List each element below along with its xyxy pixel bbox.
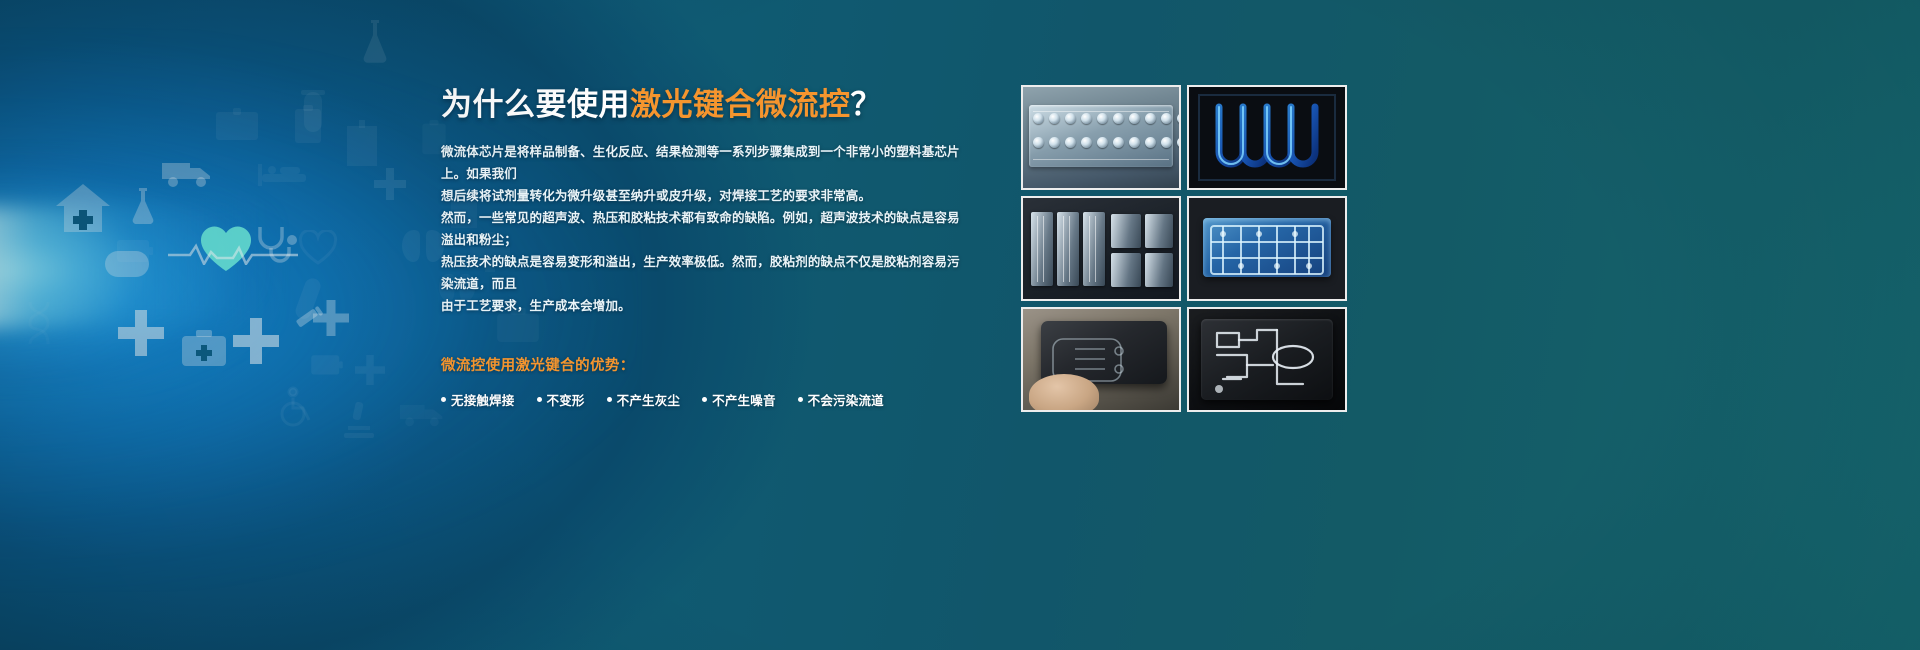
handheld-black-chip-photo[interactable]: [1021, 307, 1181, 412]
bullet-dot-icon: [798, 397, 803, 402]
list-item-label: 不会污染流道: [808, 390, 884, 409]
bullet-dot-icon: [607, 397, 612, 402]
headline-lead: 为什么要使用: [441, 87, 630, 122]
paragraph-line: 然而，一些常见的超声波、热压和胶粘技术都有致命的缺陷。例如，超声波技术的缺点是容…: [441, 207, 971, 251]
paragraph-line: 想后续将试剂量转化为微升级甚至纳升或皮升级，对焊接工艺的要求非常高。: [441, 185, 971, 207]
list-item: 不变形: [537, 390, 585, 409]
blue-manifold-photo[interactable]: [1187, 196, 1347, 301]
paragraph-2: 然而，一些常见的超声波、热压和胶粘技术都有致命的缺陷。例如，超声波技术的缺点是容…: [441, 207, 971, 317]
paragraph-line: 由于工艺要求，生产成本会增加。: [441, 295, 971, 317]
striped-chips-photo[interactable]: [1021, 196, 1181, 301]
list-item-label: 不产生灰尘: [617, 390, 681, 409]
list-item: 不产生灰尘: [607, 390, 681, 409]
list-item-label: 不产生噪音: [712, 390, 776, 409]
product-photo-gallery: [1021, 85, 1347, 412]
microfluidic-chip-wells-photo[interactable]: [1021, 85, 1181, 190]
banner-content: 为什么要使用激光键合微流控？ 微流体芯片是将样品制备、生化反应、结果检测等一系列…: [441, 86, 971, 409]
bullet-dot-icon: [537, 397, 542, 402]
promo-banner: 为什么要使用激光键合微流控？ 微流体芯片是将样品制备、生化反应、结果检测等一系列…: [0, 0, 1920, 650]
list-item: 无接触焊接: [441, 390, 515, 409]
serpentine-channel-photo[interactable]: [1187, 85, 1347, 190]
bullet-dot-icon: [441, 397, 446, 402]
light-burst-beam: [0, 202, 260, 327]
headline-question-mark: ？: [851, 87, 883, 122]
page-title: 为什么要使用激光键合微流控？: [441, 86, 971, 125]
bullet-dot-icon: [702, 397, 707, 402]
paragraph-line: 热压技术的缺点是容易变形和溢出，生产效率极低。然而，胶粘剂的缺点不仅是胶粘剂容易…: [441, 251, 971, 295]
black-cartridge-photo[interactable]: [1187, 307, 1347, 412]
body-copy: 微流体芯片是将样品制备、生化反应、结果检测等一系列步骤集成到一个非常小的塑料基芯…: [441, 141, 971, 317]
list-item-label: 不变形: [547, 390, 585, 409]
headline-accent: 激光键合微流控: [630, 87, 851, 122]
list-item: 不产生噪音: [702, 390, 776, 409]
advantages-list: 无接触焊接 不变形 不产生灰尘 不产生噪音 不会污染流道: [441, 390, 971, 409]
advantages-heading: 微流控使用激光键合的优势：: [441, 354, 971, 375]
list-item-label: 无接触焊接: [451, 390, 515, 409]
list-item: 不会污染流道: [798, 390, 884, 409]
paragraph-1: 微流体芯片是将样品制备、生化反应、结果检测等一系列步骤集成到一个非常小的塑料基芯…: [441, 141, 971, 207]
paragraph-line: 微流体芯片是将样品制备、生化反应、结果检测等一系列步骤集成到一个非常小的塑料基芯…: [441, 141, 971, 185]
